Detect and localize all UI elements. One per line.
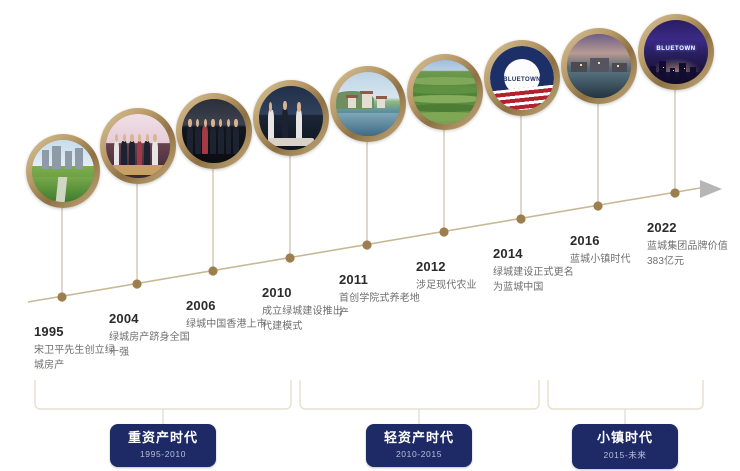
event-label-2010: 2010 成立绿城建设推出代建模式 <box>262 286 346 334</box>
event-label-1995: 1995 宋卫平先生创立绿城房产 <box>34 325 118 373</box>
night-city-photo: BLUETOWN <box>644 20 708 84</box>
night-city-wordmark: BLUETOWN <box>644 46 708 52</box>
era-range: 1995-2010 <box>110 449 216 459</box>
bluetown-logo-disc: BLUETOWN <box>490 46 554 110</box>
medallion-2012 <box>407 54 483 130</box>
event-year: 2004 <box>109 312 193 326</box>
era-badge-light-asset[interactable]: 轻资产时代 2010-2015 <box>366 424 472 467</box>
event-label-2016: 2016 蓝城小镇时代 <box>570 234 654 268</box>
medallion-2022: BLUETOWN <box>638 14 714 90</box>
event-year: 2006 <box>186 299 270 313</box>
era-title: 重资产时代 <box>110 431 216 445</box>
event-caption: 绿城房产跻身全国十强 <box>109 331 193 360</box>
signing-ceremony-photo <box>259 86 323 150</box>
era-title: 小镇时代 <box>572 431 678 445</box>
event-caption: 首创学院式养老地产 <box>339 292 423 321</box>
medallion-2016 <box>561 28 637 104</box>
event-caption: 绿城建设正式更名为蓝城中国 <box>493 266 577 295</box>
event-label-2006: 2006 绿城中国香港上市 <box>186 299 270 333</box>
terraced-farm-photo <box>413 60 477 124</box>
event-year: 1995 <box>34 325 118 339</box>
medallion-2011 <box>330 66 406 142</box>
event-caption: 涉足现代农业 <box>416 279 500 294</box>
medallion-2014: BLUETOWN <box>484 40 560 116</box>
event-label-2022: 2022 蓝城集团品牌价值383亿元 <box>647 221 731 269</box>
bluetown-logo-wordmark: BLUETOWN <box>490 77 554 83</box>
medallion-1995 <box>26 134 100 208</box>
event-caption: 宋卫平先生创立绿城房产 <box>34 344 118 373</box>
era-badge-town[interactable]: 小镇时代 2015-未来 <box>572 424 678 469</box>
era-brackets <box>35 380 703 424</box>
dusk-town-photo <box>567 34 631 98</box>
medallion-2010 <box>253 80 329 156</box>
medallion-2006 <box>176 93 252 169</box>
listing-ceremony-photo <box>182 99 246 163</box>
campus-photo <box>32 140 94 202</box>
event-year: 2014 <box>493 247 577 261</box>
event-label-2012: 2012 涉足现代农业 <box>416 260 500 294</box>
lakeside-town-photo <box>336 72 400 136</box>
event-caption: 绿城中国香港上市 <box>186 318 270 333</box>
medallion-2004 <box>100 108 176 184</box>
event-year: 2012 <box>416 260 500 274</box>
event-year: 2010 <box>262 286 346 300</box>
era-badge-heavy-asset[interactable]: 重资产时代 1995-2010 <box>110 424 216 467</box>
timeline-infographic: BLUETOWN <box>0 0 740 471</box>
timeline-arrowhead <box>700 180 722 198</box>
event-caption: 蓝城小镇时代 <box>570 253 654 268</box>
event-caption: 蓝城集团品牌价值383亿元 <box>647 240 731 269</box>
event-year: 2016 <box>570 234 654 248</box>
event-year: 2011 <box>339 273 423 287</box>
event-label-2004: 2004 绿城房产跻身全国十强 <box>109 312 193 360</box>
group-award-photo <box>106 114 170 178</box>
event-label-2014: 2014 绿城建设正式更名为蓝城中国 <box>493 247 577 295</box>
era-range: 2010-2015 <box>366 449 472 459</box>
event-label-2011: 2011 首创学院式养老地产 <box>339 273 423 321</box>
event-caption: 成立绿城建设推出代建模式 <box>262 305 346 334</box>
event-year: 2022 <box>647 221 731 235</box>
era-range: 2015-未来 <box>572 449 678 461</box>
era-title: 轻资产时代 <box>366 431 472 445</box>
bluetown-logo: BLUETOWN <box>490 46 554 110</box>
